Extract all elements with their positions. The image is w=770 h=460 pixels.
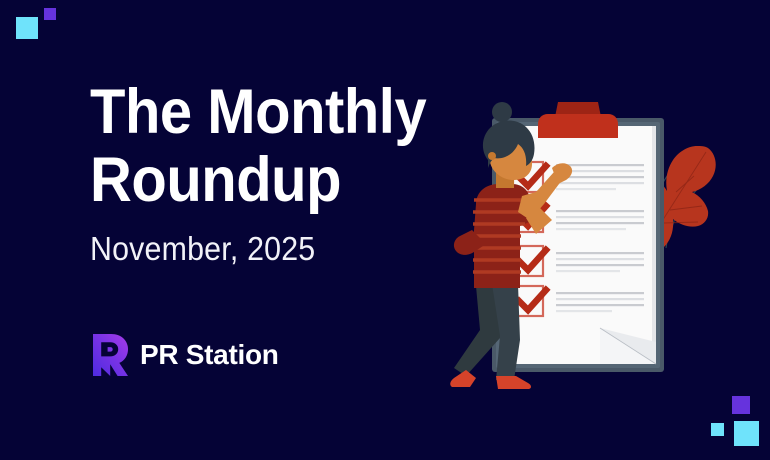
purple-square-top-left [44,8,56,20]
person-checking-clipboard-illustration [430,80,750,400]
monthly-roundup-banner: The Monthly Roundup November, 2025 PR St… [0,0,770,460]
clipboard-clip-icon [538,102,618,138]
text-block: The Monthly Roundup November, 2025 [90,78,470,268]
cyan-small-square-bottom-right [711,423,724,436]
person-hair-bun [492,102,512,122]
cyan-large-square-bottom-right [734,421,759,446]
clipboard-paper-shadow [652,126,656,364]
pr-station-r-monogram-icon [91,333,129,377]
person-back-shoe [450,370,476,387]
brand-logo: PR Station [91,333,279,377]
page-title: The Monthly Roundup [90,78,440,214]
person-front-shoe [496,376,531,389]
issue-date: November, 2025 [90,230,440,268]
person-ear [488,152,496,160]
brand-name: PR Station [140,341,279,369]
cyan-square-top-left [16,17,38,39]
